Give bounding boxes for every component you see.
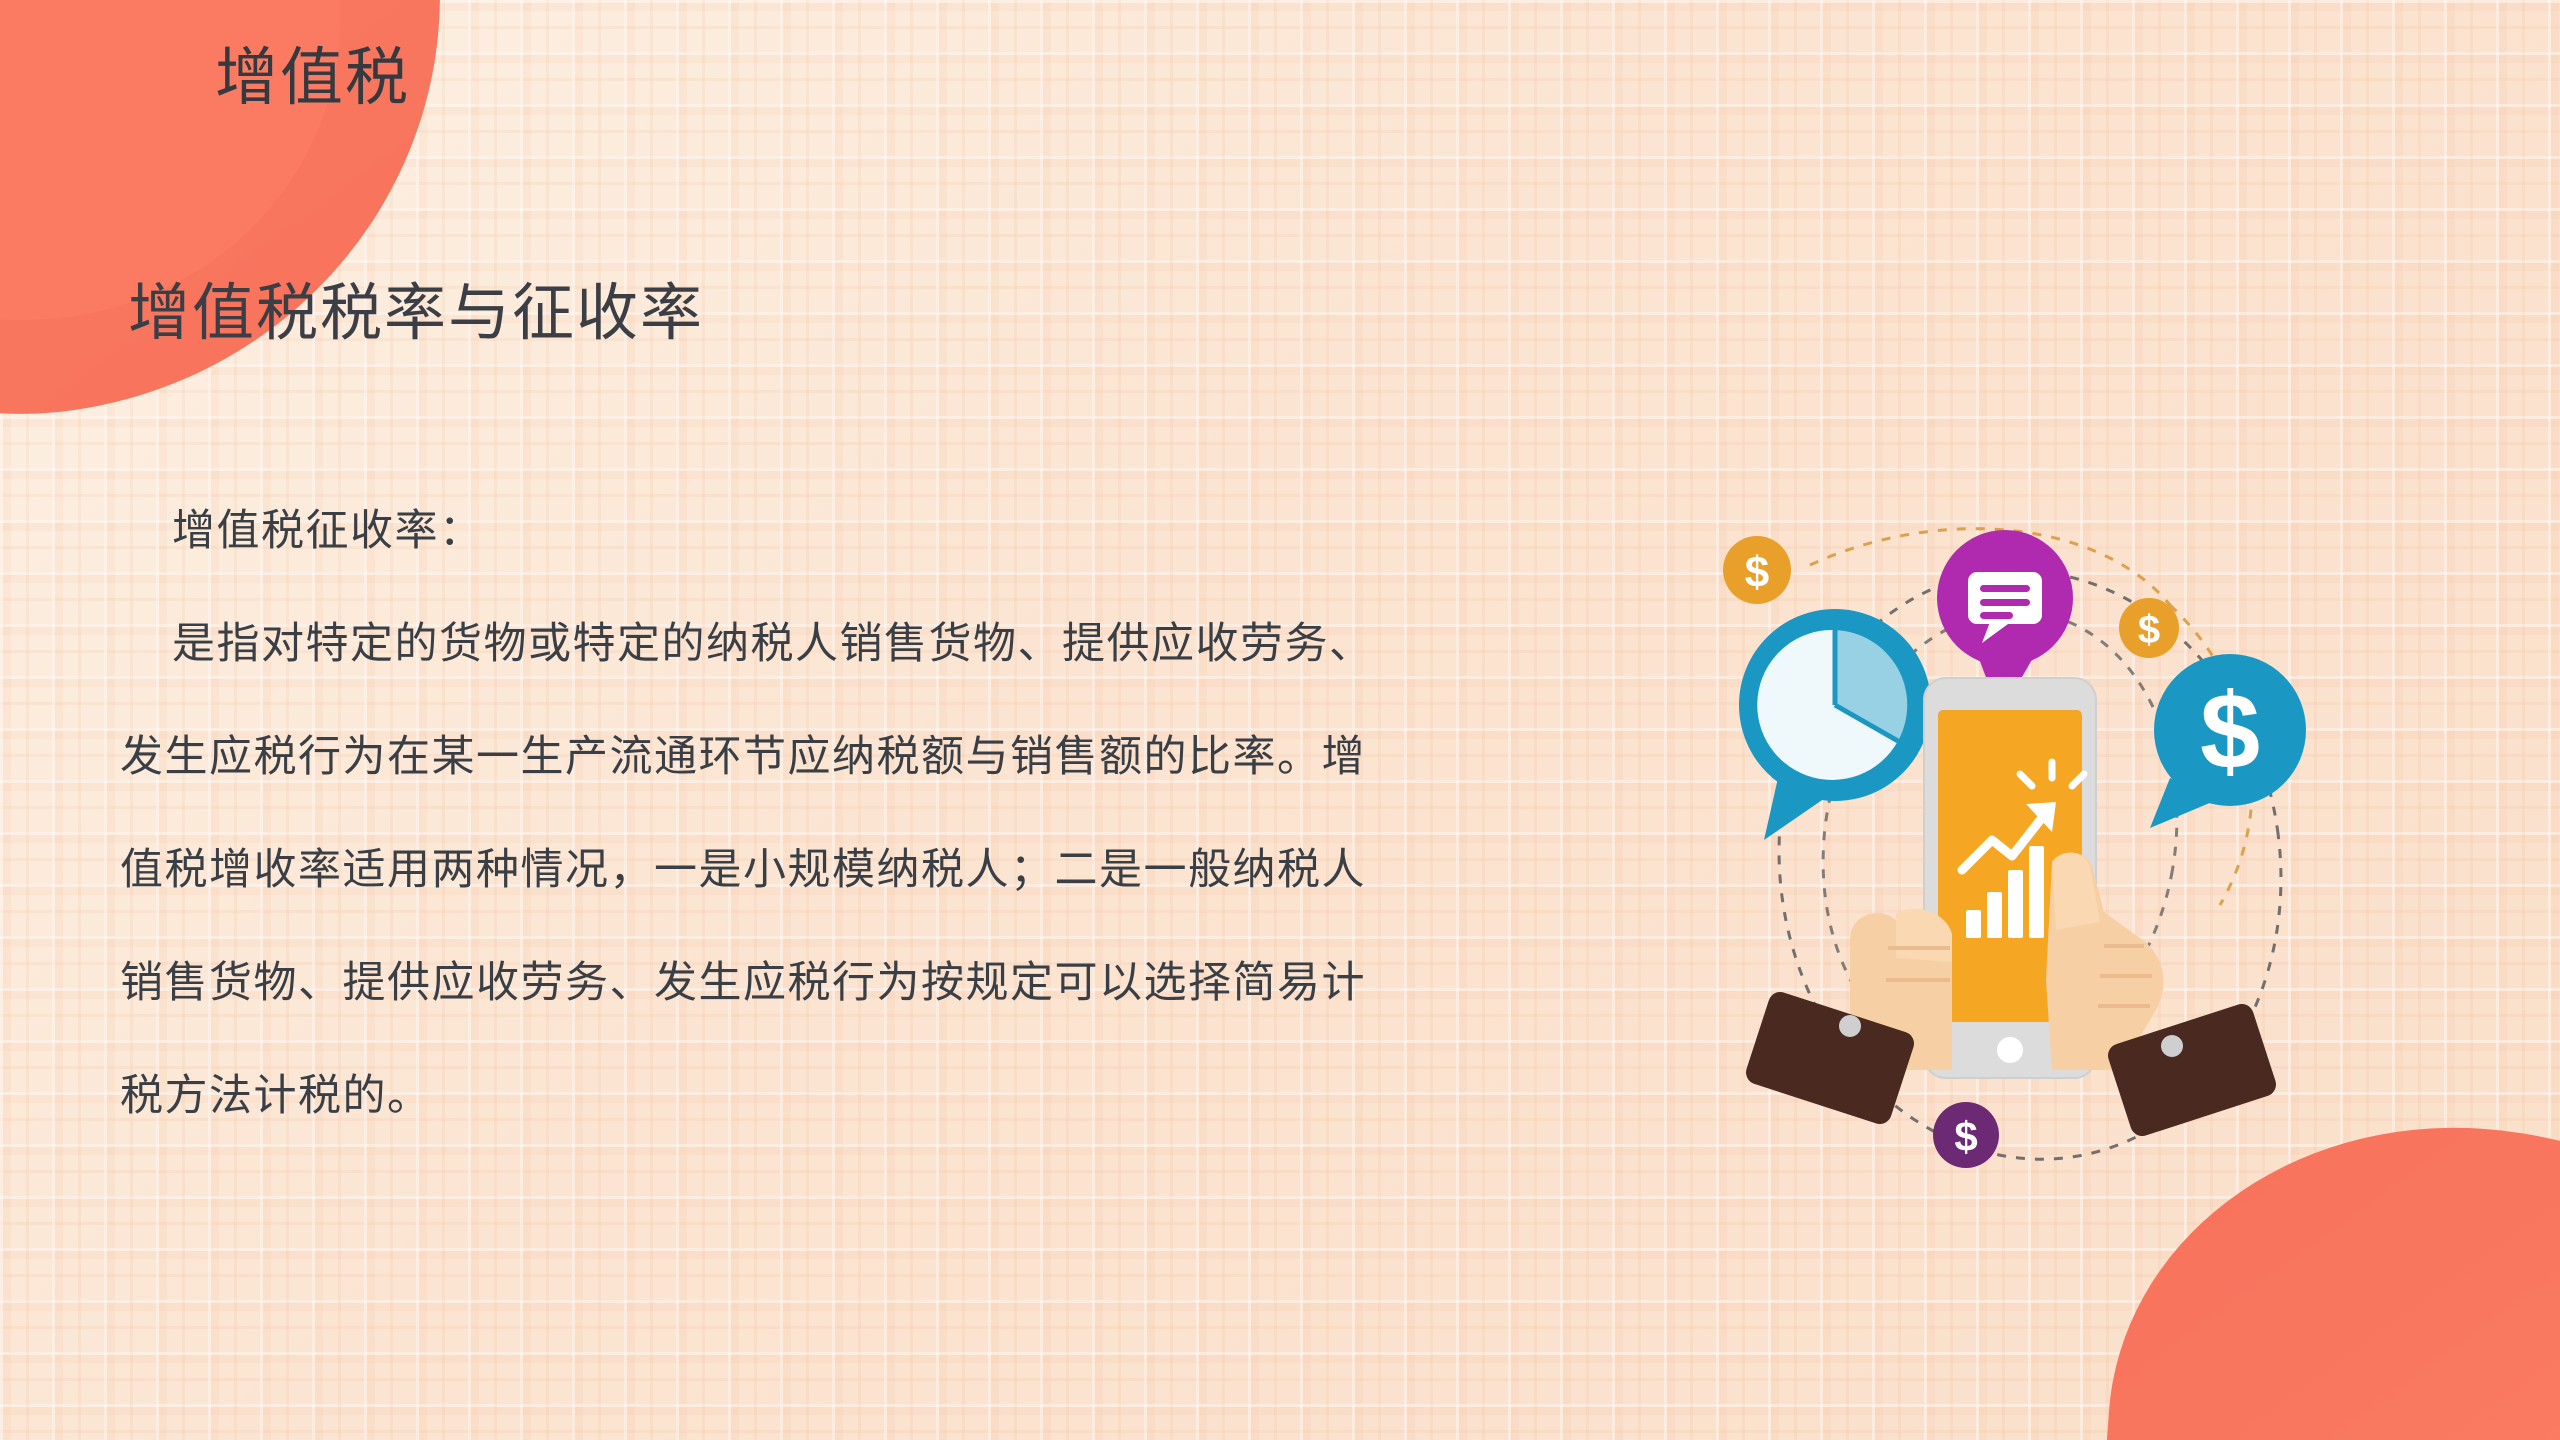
section-heading: 增值税税率与征收率 <box>128 278 704 349</box>
body-line: 销售货物、提供应收劳务、发生应税行为按规定可以选择简易计 <box>120 962 1540 1005</box>
cuff-button-left <box>1839 1015 1861 1037</box>
body-text-block: 增值税征收率： 是指对特定的货物或特定的纳税人销售货物、提供应收劳务、 发生应税… <box>120 510 1540 1118</box>
svg-text:$: $ <box>1954 1113 1977 1160</box>
hand-left <box>1743 909 1952 1127</box>
mobile-finance-illustration: $ $ $ $ <box>1700 510 2340 1210</box>
svg-text:$: $ <box>1745 548 1769 597</box>
body-line: 值税增收率适用两种情况，一是小规模纳税人；二是一般纳税人 <box>120 849 1540 892</box>
body-line: 发生应税行为在某一生产流通环节应纳税额与销售额的比率。增 <box>120 736 1540 779</box>
coin-top-left: $ <box>1723 536 1791 604</box>
dollar-bubble: $ <box>2150 654 2306 828</box>
coin-top-right: $ <box>2119 598 2179 658</box>
pie-chart-bubble <box>1739 609 1931 840</box>
body-line: 是指对特定的货物或特定的纳税人销售货物、提供应收劳务、 <box>120 623 1540 666</box>
phone-home-button <box>1997 1037 2023 1063</box>
hand-right <box>2046 853 2279 1139</box>
dollar-bubble-label: $ <box>2200 670 2260 791</box>
body-line: 税方法计税的。 <box>120 1075 1540 1118</box>
coin-bottom: $ <box>1933 1102 1999 1168</box>
page-title: 增值税 <box>215 42 410 114</box>
svg-text:$: $ <box>2138 608 2160 652</box>
slide-root: 增值税 增值税税率与征收率 增值税征收率： 是指对特定的货物或特定的纳税人销售货… <box>0 0 2560 1440</box>
cuff-button-right <box>2161 1035 2183 1057</box>
body-line: 增值税征收率： <box>120 510 1540 553</box>
